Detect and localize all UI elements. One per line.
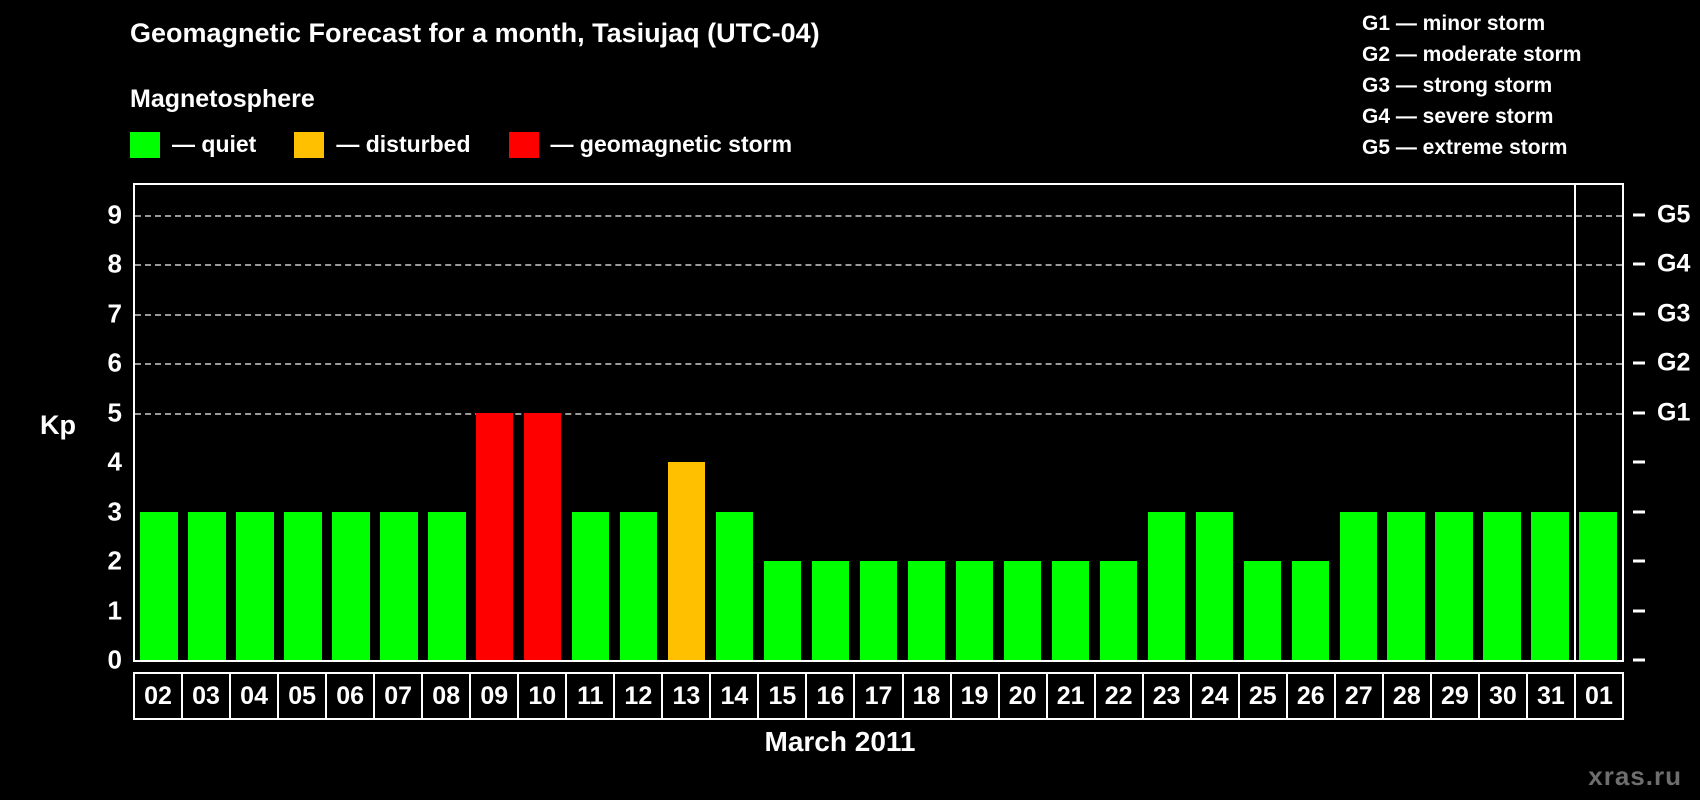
day-label-23[interactable]: 23 bbox=[1142, 674, 1190, 718]
day-label-15[interactable]: 15 bbox=[757, 674, 805, 718]
day-label-02[interactable]: 02 bbox=[133, 674, 181, 718]
bar-16[interactable] bbox=[812, 561, 849, 660]
bar-cell[interactable] bbox=[1334, 185, 1382, 660]
bar-02[interactable] bbox=[140, 512, 177, 660]
g-scale-line-g2: G2 — moderate storm bbox=[1362, 39, 1672, 70]
legend-swatch-quiet-icon bbox=[130, 132, 160, 158]
day-label-14[interactable]: 14 bbox=[709, 674, 757, 718]
y-tick-label-6: 6 bbox=[108, 348, 122, 379]
g-tick-mark bbox=[1633, 362, 1645, 365]
day-label-08[interactable]: 08 bbox=[421, 674, 469, 718]
bar-cell[interactable] bbox=[759, 185, 807, 660]
bar-cell[interactable] bbox=[567, 185, 615, 660]
y-tick-label-4: 4 bbox=[108, 447, 122, 478]
bar-05[interactable] bbox=[284, 512, 321, 660]
g-tick-mark bbox=[1633, 263, 1645, 266]
g-tick-label-g2: G2 bbox=[1657, 349, 1690, 378]
y-tick-label-7: 7 bbox=[108, 298, 122, 329]
y-tick-label-5: 5 bbox=[108, 397, 122, 428]
g-tick-label-g5: G5 bbox=[1657, 200, 1690, 229]
y-tick-label-2: 2 bbox=[108, 546, 122, 577]
day-label-03[interactable]: 03 bbox=[181, 674, 229, 718]
bar-cell[interactable] bbox=[1430, 185, 1478, 660]
bar-cell[interactable] bbox=[1238, 185, 1286, 660]
y-tick-label-1: 1 bbox=[108, 595, 122, 626]
bar-cell[interactable] bbox=[279, 185, 327, 660]
bar-27[interactable] bbox=[1340, 512, 1377, 660]
bars-container bbox=[135, 185, 1622, 660]
g-tick-label-g4: G4 bbox=[1657, 250, 1690, 279]
day-label-19[interactable]: 19 bbox=[950, 674, 998, 718]
bar-01[interactable] bbox=[1579, 512, 1616, 660]
g-tick-mark-minor bbox=[1633, 560, 1645, 563]
bar-13[interactable] bbox=[668, 462, 705, 660]
bar-cell[interactable] bbox=[519, 185, 567, 660]
bar-24[interactable] bbox=[1196, 512, 1233, 660]
day-label-29[interactable]: 29 bbox=[1430, 674, 1478, 718]
bar-17[interactable] bbox=[860, 561, 897, 660]
day-label-31[interactable]: 31 bbox=[1526, 674, 1574, 718]
legend-item-storm: — geomagnetic storm bbox=[509, 131, 831, 158]
bar-31[interactable] bbox=[1531, 512, 1568, 660]
g-scale-line-g5: G5 — extreme storm bbox=[1362, 132, 1672, 163]
g-scale-line-g4: G4 — severe storm bbox=[1362, 101, 1672, 132]
magnetosphere-label: Magnetosphere bbox=[130, 85, 315, 114]
day-label-25[interactable]: 25 bbox=[1238, 674, 1286, 718]
day-label-05[interactable]: 05 bbox=[277, 674, 325, 718]
bar-cell[interactable] bbox=[1190, 185, 1238, 660]
bar-25[interactable] bbox=[1244, 561, 1281, 660]
bar-23[interactable] bbox=[1148, 512, 1185, 660]
bar-06[interactable] bbox=[332, 512, 369, 660]
g-scale-legend: G1 — minor storm G2 — moderate storm G3 … bbox=[1362, 8, 1672, 163]
g-tick-label-g3: G3 bbox=[1657, 299, 1690, 328]
day-label-10[interactable]: 10 bbox=[517, 674, 565, 718]
day-label-21[interactable]: 21 bbox=[1046, 674, 1094, 718]
bar-20[interactable] bbox=[1004, 561, 1041, 660]
bar-cell[interactable] bbox=[1142, 185, 1190, 660]
day-label-17[interactable]: 17 bbox=[853, 674, 901, 718]
bar-22[interactable] bbox=[1100, 561, 1137, 660]
day-label-18[interactable]: 18 bbox=[902, 674, 950, 718]
y-tick-label-8: 8 bbox=[108, 249, 122, 280]
bar-10[interactable] bbox=[524, 413, 561, 660]
legend-label-quiet: — quiet bbox=[172, 131, 256, 158]
bar-08[interactable] bbox=[428, 512, 465, 660]
bar-21[interactable] bbox=[1052, 561, 1089, 660]
y-axis: 0123456789 bbox=[78, 183, 122, 660]
day-label-13[interactable]: 13 bbox=[661, 674, 709, 718]
bar-28[interactable] bbox=[1387, 512, 1424, 660]
g-tick-mark bbox=[1633, 312, 1645, 315]
legend: — quiet — disturbed — geomagnetic storm bbox=[130, 131, 830, 158]
bar-cell[interactable] bbox=[903, 185, 951, 660]
g-tick-mark-minor bbox=[1633, 510, 1645, 513]
day-label-24[interactable]: 24 bbox=[1190, 674, 1238, 718]
bar-cell[interactable] bbox=[1046, 185, 1094, 660]
bar-cell[interactable] bbox=[1574, 185, 1622, 660]
legend-label-disturbed: — disturbed bbox=[336, 131, 470, 158]
bar-cell[interactable] bbox=[471, 185, 519, 660]
g-tick-mark bbox=[1633, 411, 1645, 414]
bar-29[interactable] bbox=[1435, 512, 1472, 660]
bar-11[interactable] bbox=[572, 512, 609, 660]
g-scale-line-g3: G3 — strong storm bbox=[1362, 70, 1672, 101]
day-label-16[interactable]: 16 bbox=[805, 674, 853, 718]
bar-cell[interactable] bbox=[855, 185, 903, 660]
month-separator-line bbox=[1574, 185, 1576, 660]
bar-cell[interactable] bbox=[1478, 185, 1526, 660]
legend-swatch-disturbed-icon bbox=[294, 132, 324, 158]
day-label-07[interactable]: 07 bbox=[373, 674, 421, 718]
day-label-11[interactable]: 11 bbox=[565, 674, 613, 718]
bar-cell[interactable] bbox=[950, 185, 998, 660]
bar-cell[interactable] bbox=[807, 185, 855, 660]
legend-item-disturbed: — disturbed bbox=[294, 131, 508, 158]
g-tick-mark-minor bbox=[1633, 659, 1645, 662]
legend-swatch-storm-icon bbox=[509, 132, 539, 158]
bar-cell[interactable] bbox=[1382, 185, 1430, 660]
bar-cell[interactable] bbox=[423, 185, 471, 660]
day-label-06[interactable]: 06 bbox=[325, 674, 373, 718]
day-label-28[interactable]: 28 bbox=[1382, 674, 1430, 718]
x-axis-title: March 2011 bbox=[0, 726, 1700, 758]
bar-19[interactable] bbox=[956, 561, 993, 660]
bar-cell[interactable] bbox=[231, 185, 279, 660]
y-tick-label-0: 0 bbox=[108, 645, 122, 676]
day-label-27[interactable]: 27 bbox=[1334, 674, 1382, 718]
g-tick-mark bbox=[1633, 213, 1645, 216]
day-label-09[interactable]: 09 bbox=[469, 674, 517, 718]
bar-cell[interactable] bbox=[711, 185, 759, 660]
g-tick-label-g1: G1 bbox=[1657, 398, 1690, 427]
bar-cell[interactable] bbox=[375, 185, 423, 660]
y-tick-label-9: 9 bbox=[108, 199, 122, 230]
g-tick-mark-minor bbox=[1633, 609, 1645, 612]
bar-04[interactable] bbox=[236, 512, 273, 660]
page-title: Geomagnetic Forecast for a month, Tasiuj… bbox=[130, 18, 820, 49]
bar-12[interactable] bbox=[620, 512, 657, 660]
bar-cell[interactable] bbox=[327, 185, 375, 660]
x-axis-title-text: March 2011 bbox=[765, 726, 916, 758]
y-axis-title: Kp bbox=[40, 410, 76, 441]
day-label-30[interactable]: 30 bbox=[1478, 674, 1526, 718]
watermark: xras.ru bbox=[1588, 761, 1682, 792]
bar-cell[interactable] bbox=[615, 185, 663, 660]
day-label-22[interactable]: 22 bbox=[1094, 674, 1142, 718]
bar-15[interactable] bbox=[764, 561, 801, 660]
bar-cell[interactable] bbox=[1094, 185, 1142, 660]
bar-cell[interactable] bbox=[1286, 185, 1334, 660]
g-axis: G1G2G3G4G5 bbox=[1643, 183, 1700, 660]
bar-07[interactable] bbox=[380, 512, 417, 660]
x-axis-day-labels: 0203040506070809101112131415161718192021… bbox=[133, 672, 1624, 720]
day-label-12[interactable]: 12 bbox=[613, 674, 661, 718]
bar-cell[interactable] bbox=[135, 185, 183, 660]
legend-item-quiet: — quiet bbox=[130, 131, 294, 158]
day-label-01[interactable]: 01 bbox=[1574, 674, 1624, 718]
g-tick-mark-minor bbox=[1633, 461, 1645, 464]
day-label-04[interactable]: 04 bbox=[229, 674, 277, 718]
bar-cell[interactable] bbox=[183, 185, 231, 660]
day-label-26[interactable]: 26 bbox=[1286, 674, 1334, 718]
bar-cell[interactable] bbox=[1526, 185, 1574, 660]
bar-30[interactable] bbox=[1483, 512, 1520, 660]
bar-cell[interactable] bbox=[663, 185, 711, 660]
bar-26[interactable] bbox=[1292, 561, 1329, 660]
g-scale-line-g1: G1 — minor storm bbox=[1362, 8, 1672, 39]
bar-18[interactable] bbox=[908, 561, 945, 660]
bar-09[interactable] bbox=[476, 413, 513, 660]
y-tick-label-3: 3 bbox=[108, 496, 122, 527]
day-label-20[interactable]: 20 bbox=[998, 674, 1046, 718]
bar-03[interactable] bbox=[188, 512, 225, 660]
plot-area bbox=[133, 183, 1624, 662]
bar-14[interactable] bbox=[716, 512, 753, 660]
bar-cell[interactable] bbox=[998, 185, 1046, 660]
legend-label-storm: — geomagnetic storm bbox=[551, 131, 793, 158]
